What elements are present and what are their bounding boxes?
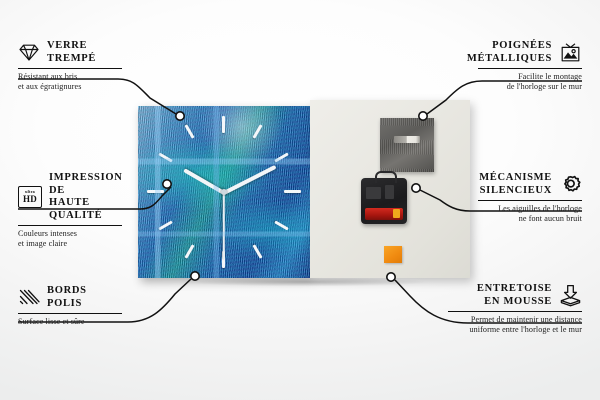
callout-title-line1: VERRE [47,40,96,53]
hour-marker [284,190,301,193]
hand-center-cap [221,189,227,195]
callout-title-line2: POLIS [47,298,87,311]
clock-back-panel [310,100,470,278]
hour-marker [147,190,164,193]
callout-title-line1: IMPRESSION DE [49,172,123,197]
callout-poignees-metalliques: POIGNÉES MÉTALLIQUES Facilite le montage… [478,40,582,92]
callout-desc-line2: uniforme entre l'horloge et le mur [448,325,582,335]
picture-frame-hanger-icon [559,42,582,63]
callout-title-line2: HAUTE QUALITÉ [49,197,123,222]
hour-marker [274,152,288,162]
hour-marker [222,251,225,268]
mechanism-loop [375,171,397,183]
callout-divider [448,311,582,312]
callout-desc-line1: Les aiguilles de l'horloge [478,204,582,214]
diamond-icon [18,43,40,62]
hour-marker [184,244,194,258]
callout-divider [18,225,122,226]
callout-divider [18,313,122,314]
hanger-slot [394,136,420,143]
gear-icon [559,174,582,196]
ultra-hd-big-label: HD [23,195,37,204]
quartz-mechanism [361,178,407,224]
battery-terminal [393,209,400,218]
callout-bords-polis: BORDS POLIS Surface lisse et sûre [18,285,122,327]
hour-marker [222,116,225,133]
callout-desc-line2: et image claire [18,239,122,249]
foam-spacer-icon [559,284,582,307]
callout-desc-line2: et aux égratignures [18,82,122,92]
mechanism-detail [385,185,394,199]
callout-divider [18,68,122,69]
callout-desc-line2: de l'horloge sur le mur [478,82,582,92]
hour-marker [252,124,262,138]
product-shadow [140,276,472,288]
hour-marker [158,152,172,162]
callout-title-line2: MÉTALLIQUES [467,53,552,66]
callout-desc-line2: ne font aucun bruit [478,214,582,224]
infographic-stage: VERRE TREMPÉ Résistant aux bris et aux é… [0,0,600,400]
callout-title-line1: MÉCANISME [479,172,552,185]
minute-hand [223,165,276,195]
callout-divider [478,68,582,69]
callout-title-line2: TREMPÉ [47,53,96,66]
callout-impression-hd: ultra HD IMPRESSION DE HAUTE QUALITÉ Cou… [18,172,122,249]
battery [365,208,403,220]
polished-edges-icon [18,288,40,307]
callout-mecanisme-silencieux: MÉCANISME SILENCIEUX Les aiguilles de l'… [478,172,582,224]
second-hand [223,193,225,259]
callout-title-line2: EN MOUSSE [477,296,552,309]
ultra-hd-icon: ultra HD [18,186,42,208]
callout-title-line1: BORDS [47,285,87,298]
callout-verre-trempe: VERRE TREMPÉ Résistant aux bris et aux é… [18,40,122,92]
hour-hand [183,168,225,194]
callout-desc-line1: Permet de maintenir une distance [448,315,582,325]
foam-spacer [384,246,402,263]
callout-desc-line1: Facilite le montage [478,72,582,82]
hour-marker [252,244,262,258]
hour-marker [158,220,172,230]
callout-divider [478,200,582,201]
mechanism-detail [366,187,381,199]
callout-desc-line1: Couleurs intenses [18,229,122,239]
callout-desc-line1: Surface lisse et sûre [18,317,122,327]
callout-title-line1: POIGNÉES [467,40,552,53]
hour-marker [274,220,288,230]
metal-hanger-plate [380,118,434,172]
callout-title-line2: SILENCIEUX [479,185,552,198]
callout-entretoise-en-mousse: ENTRETOISE EN MOUSSE Permet de maintenir… [448,283,582,335]
hour-marker [184,124,194,138]
glass-clock-face [138,106,310,278]
callout-title-line1: ENTRETOISE [477,283,552,296]
callout-desc-line1: Résistant aux bris [18,72,122,82]
